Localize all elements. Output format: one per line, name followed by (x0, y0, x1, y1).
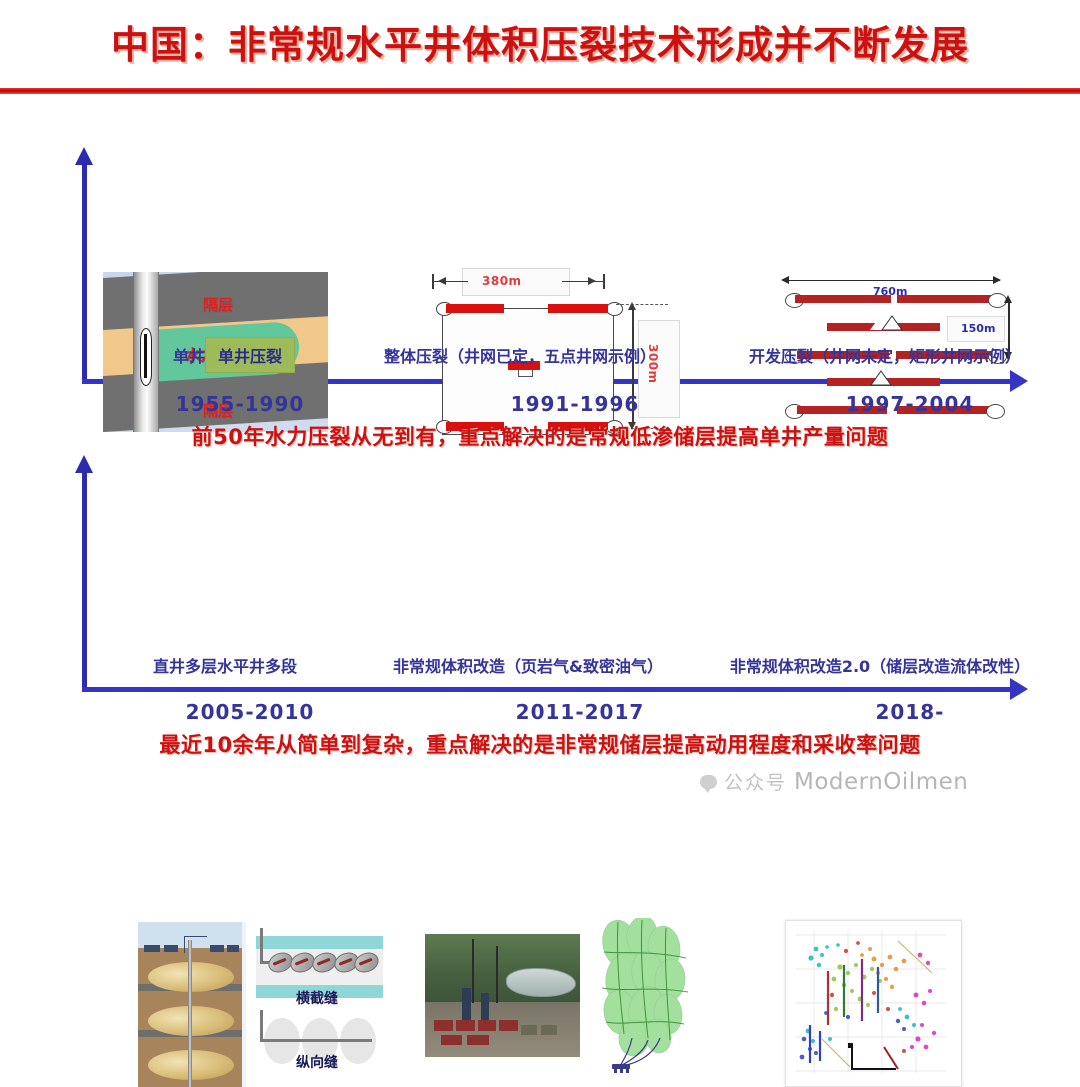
watermark: 公众号 ModernOilmen (700, 768, 968, 795)
width-arrow-left (438, 277, 446, 285)
width-dim-line-right (562, 281, 604, 282)
fracture-bar-top-left (446, 304, 504, 313)
pump-truck-3 (478, 1020, 497, 1031)
injector-triangle-1-outline (870, 315, 914, 345)
year-label-1: 1955-1990 (130, 392, 350, 416)
mast-2 (496, 946, 498, 1003)
tank-2 (541, 1025, 557, 1035)
year-label-3: 1997-2004 (800, 392, 1020, 416)
summary-text-row-2: 最近10余年从简单到复杂，重点解决的是非常规储层提高动用程度和采收率问题 (0, 733, 1080, 759)
length-dim-line (785, 280, 1000, 281)
year-label-2: 1991-1996 (465, 392, 685, 416)
triangle-icon (881, 315, 903, 331)
pump-truck-2 (456, 1020, 475, 1031)
triangle-icon (870, 370, 892, 386)
teal-band-top (256, 936, 383, 949)
truck-3 (210, 945, 224, 952)
timeline-row-1: 隔层 水力裂缝 隔层 380m (0, 100, 1080, 440)
derrick-icon (184, 936, 207, 953)
title-bar: 中国：非常规水平井体积压裂技术形成并不断发展 (0, 14, 1080, 69)
width-dimension-label: 380m (482, 274, 522, 288)
slide-root: 中国：非常规水平井体积压裂技术形成并不断发展 隔层 水力裂缝 隔层 380m (0, 0, 1080, 810)
title-divider (0, 88, 1080, 94)
label-longitudinal-fracture: 纵向缝 (296, 1052, 338, 1072)
length-arrow-left (781, 276, 789, 284)
spacing-dimension-label: 150m (961, 322, 995, 335)
watermark-cn-label: 公众号 (724, 768, 787, 795)
center-well-symbol (518, 370, 533, 377)
surface-equipment-group (144, 936, 240, 952)
panel-multilayer-multistage: 横截缝 纵向缝 (138, 922, 383, 1087)
spacing-arrow-top (1004, 295, 1012, 303)
pump-truck-6 (467, 1035, 489, 1045)
well-bar-row1-b (897, 295, 997, 303)
truck-4 (227, 945, 239, 952)
year-label-4: 2005-2010 (140, 700, 360, 724)
highlight-chip-single-well-fracturing: 单井压裂 (205, 337, 295, 373)
fracture-type-illustration: 横截缝 纵向缝 (246, 922, 383, 1087)
horizontal-well-vertical-section-1 (260, 928, 263, 964)
year-label-6: 2018- (800, 700, 1020, 724)
fracture-network-svg (590, 918, 700, 1083)
label-transverse-fracture: 横截缝 (296, 988, 338, 1008)
pump-truck-5 (441, 1035, 463, 1045)
page-title: 中国：非常规水平井体积压裂技术形成并不断发展 (111, 14, 969, 69)
row2-horizontal-axis (82, 687, 1012, 692)
caption-stage-6: 非常规体积改造2.0（储层改造流体改性） (690, 653, 1070, 677)
height-arrow-top (628, 302, 636, 310)
tower-2 (481, 993, 489, 1023)
year-label-5: 2011-2017 (470, 700, 690, 724)
horizontal-well-lateral-2 (260, 1039, 372, 1042)
pump-truck-1 (434, 1020, 453, 1031)
mast-1 (472, 939, 474, 1003)
tower-1 (462, 988, 471, 1022)
well-bar-row1-a (795, 295, 891, 303)
panel-microseismic-cloud (785, 920, 962, 1087)
wellbore-trace (852, 1047, 898, 1069)
caption-stage-3: 开发压裂（井网未定，矩形井网示例） (720, 343, 1050, 367)
width-arrow-right (588, 277, 596, 285)
surface-equipment-icon (612, 1064, 630, 1073)
caption-stage-2: 整体压裂（井网已定，五点井网示例） (355, 343, 685, 367)
caption-stage-5: 非常规体积改造（页岩气&致密油气） (358, 653, 698, 677)
tank-1 (521, 1025, 537, 1035)
panel-fracture-network-simulation (590, 918, 700, 1083)
width-dim-tick-right (603, 274, 605, 289)
truck-1 (144, 945, 160, 952)
horizontal-well-vertical-section-2 (260, 1010, 263, 1042)
length-arrow-right (993, 276, 1001, 284)
timeline-row-2: 横截缝 纵向缝 (0, 440, 1080, 800)
microseismic-svg (786, 921, 959, 1084)
width-dim-tick-left (432, 274, 434, 289)
watermark-brand-label: ModernOilmen (794, 769, 968, 795)
height-dim-dash-top (616, 304, 668, 305)
caption-stage-4: 直井多层水平井多段 (75, 653, 375, 677)
vertical-wellbore (188, 940, 192, 1087)
fracture-bar-top-right (548, 304, 608, 313)
injector-triangle-2-outline (870, 370, 892, 385)
panel-shale-gas-site-photo (425, 934, 580, 1057)
speech-bubble-icon (700, 775, 717, 789)
pump-truck-4 (499, 1020, 518, 1031)
truck-2 (164, 945, 178, 952)
label-barrier-top: 隔层 (203, 294, 233, 315)
